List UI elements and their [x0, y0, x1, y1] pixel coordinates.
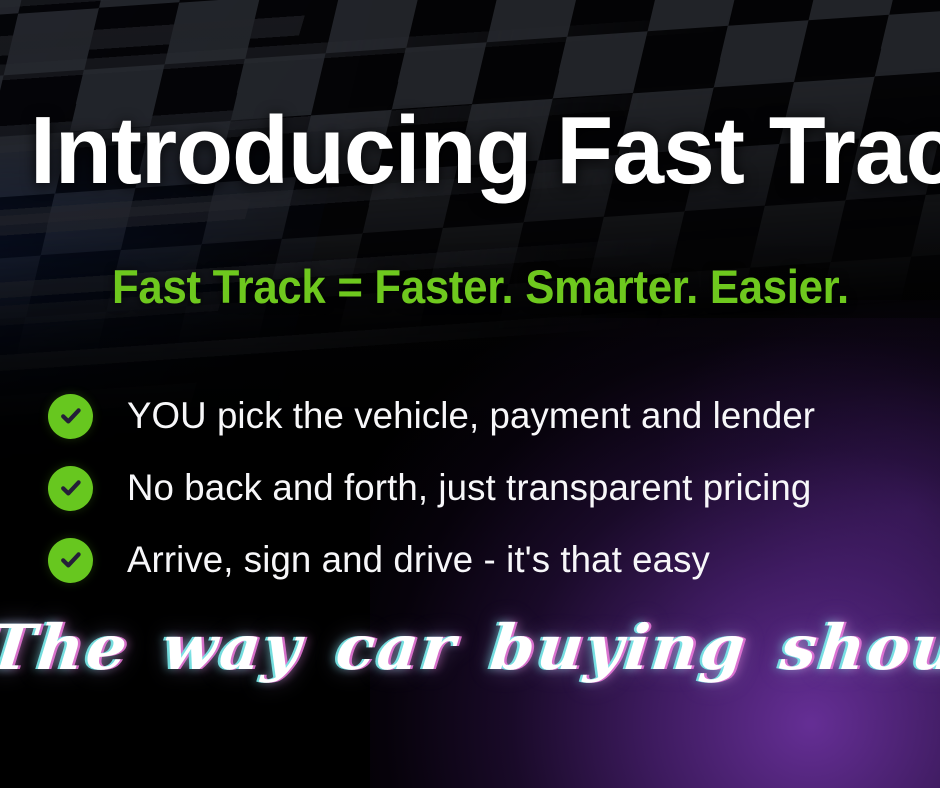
- tagline-container: The way car buying should be.: [0, 612, 940, 683]
- promo-graphic: Introducing Fast Track Fast Track = Fast…: [0, 0, 940, 788]
- list-item-label: Arrive, sign and drive - it's that easy: [127, 541, 710, 580]
- check-circle-icon: [48, 394, 93, 439]
- benefits-list: YOU pick the vehicle, payment and lender…: [48, 380, 908, 596]
- tagline: The way car buying should be.: [0, 612, 940, 683]
- check-circle-icon: [48, 466, 93, 511]
- list-item: YOU pick the vehicle, payment and lender: [48, 380, 908, 452]
- list-item: Arrive, sign and drive - it's that easy: [48, 524, 908, 596]
- check-circle-icon: [48, 538, 93, 583]
- headline: Introducing Fast Track: [30, 103, 884, 199]
- list-item: No back and forth, just transparent pric…: [48, 452, 908, 524]
- subtitle: Fast Track = Faster. Smarter. Easier.: [112, 263, 819, 310]
- list-item-label: YOU pick the vehicle, payment and lender: [127, 397, 815, 436]
- list-item-label: No back and forth, just transparent pric…: [127, 469, 811, 508]
